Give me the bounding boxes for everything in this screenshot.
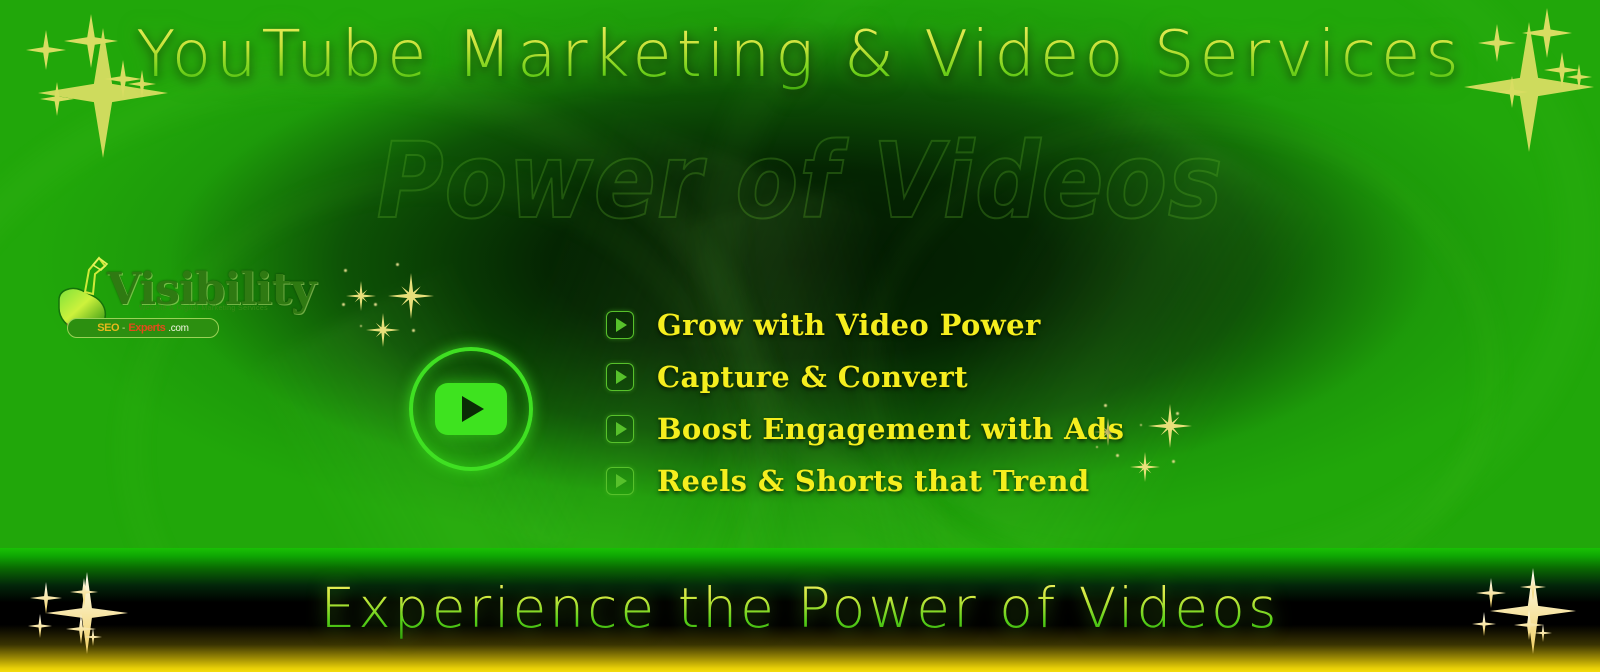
banner-footer: Experience the Power of Videos [0, 548, 1600, 672]
brand-logo[interactable]: Visibility Website & Digital Marketing S… [55, 248, 230, 350]
play-triangle-icon [462, 396, 484, 422]
feature-label: Grow with Video Power [657, 308, 1041, 342]
feature-label: Capture & Convert [657, 360, 968, 394]
play-square-icon [606, 415, 634, 443]
list-item[interactable]: Boost Engagement with Ads [606, 403, 1124, 455]
footer-tagline: Experience the Power of Videos [0, 576, 1600, 640]
youtube-play-button[interactable] [409, 347, 533, 471]
page-title: YouTube Marketing & Video Services [0, 18, 1600, 92]
logo-domain-pill: SEO - Experts .com [67, 318, 219, 338]
logo-experts-text: Experts [128, 322, 165, 334]
banner-stage: Power of Videos YouTube Marketing & Vide… [0, 0, 1600, 548]
list-item[interactable]: Capture & Convert [606, 351, 1124, 403]
list-item[interactable]: Grow with Video Power [606, 299, 1124, 351]
feature-label: Reels & Shorts that Trend [657, 464, 1090, 498]
feature-list: Grow with Video Power Capture & Convert … [606, 299, 1124, 507]
logo-seo-text: SEO [97, 322, 119, 334]
play-square-icon [606, 363, 634, 391]
play-badge-icon [435, 383, 507, 435]
logo-dash: - [122, 323, 125, 334]
list-item[interactable]: Reels & Shorts that Trend [606, 455, 1124, 507]
banner-root: Power of Videos YouTube Marketing & Vide… [0, 0, 1600, 672]
logo-dotcom-text: .com [168, 323, 188, 334]
logo-tagline: Website & Digital Marketing Services [139, 305, 268, 312]
feature-label: Boost Engagement with Ads [657, 412, 1124, 446]
play-square-icon [606, 311, 634, 339]
play-square-icon [606, 467, 634, 495]
